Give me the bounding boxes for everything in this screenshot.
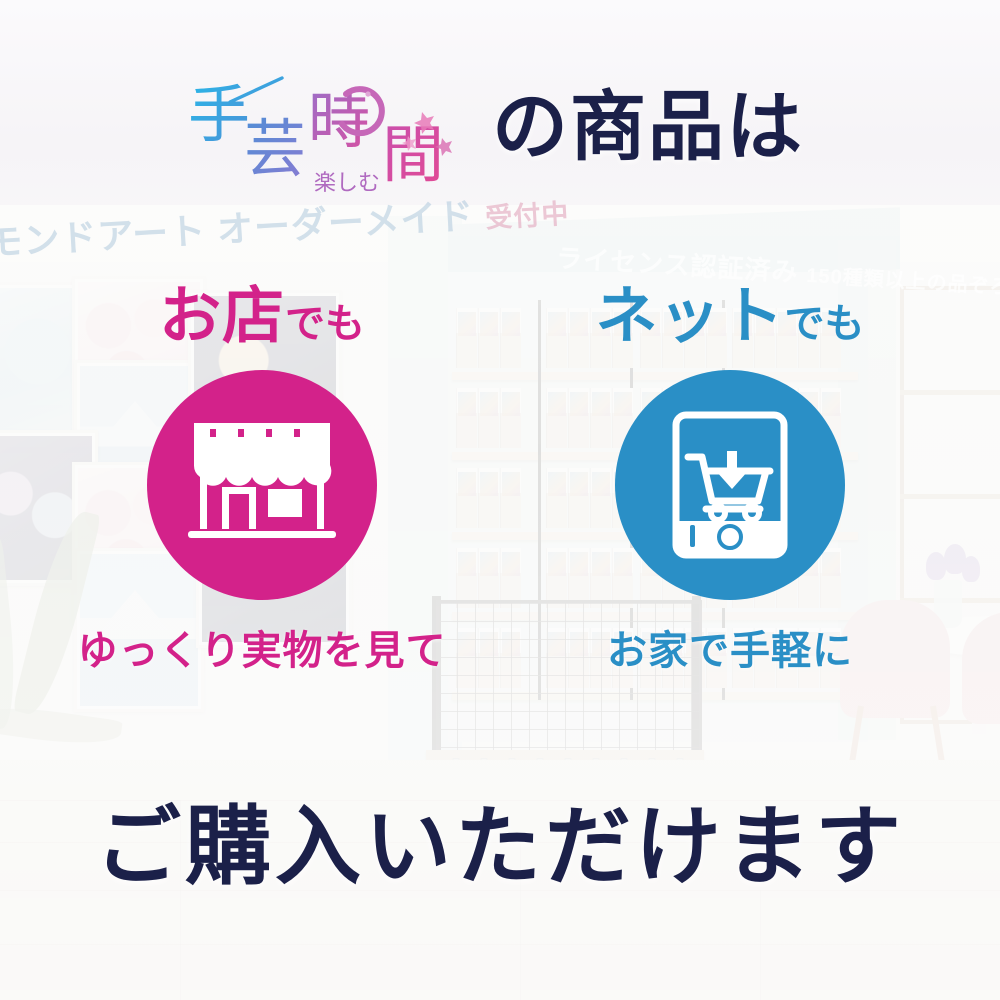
tablet-cart-icon-badge[interactable] <box>615 370 845 600</box>
footer-line: ご購入いただけます <box>0 800 1000 895</box>
logo-subtext: 楽しむ <box>314 171 380 196</box>
tablet-cart-download-icon <box>666 409 794 561</box>
store-label-small: でも <box>285 302 365 346</box>
store-label: お店でも <box>52 286 472 348</box>
online-label: ネットでも <box>520 286 940 348</box>
store-label-big: お店 <box>159 282 285 351</box>
logo-char-ji: 時 <box>308 84 370 157</box>
promo-banner: モンドアート オーダーメイド 受付中 ライセンス認証済み 150種類以上の品ぞろ… <box>0 0 1000 1000</box>
storefront-icon-badge[interactable] <box>147 370 377 600</box>
brand-logo: 手 芸 時 間 楽しむ <box>186 72 486 200</box>
online-label-big: ネット <box>595 282 784 351</box>
storefront-icon <box>188 419 336 551</box>
headline-suffix: の商品は <box>492 90 804 166</box>
logo-char-kan: 間 <box>382 118 444 191</box>
online-caption: お家で手軽に <box>520 618 940 676</box>
logo-char-gei: 芸 <box>244 112 306 185</box>
column-online: ネットでも <box>520 286 940 676</box>
online-label-small: でも <box>785 302 865 346</box>
logo-char-te: 手 <box>188 78 250 151</box>
store-caption: ゆっくり実物を見て <box>52 618 472 676</box>
column-store: お店でも <box>52 286 472 676</box>
clock-dot-icon <box>365 91 370 96</box>
